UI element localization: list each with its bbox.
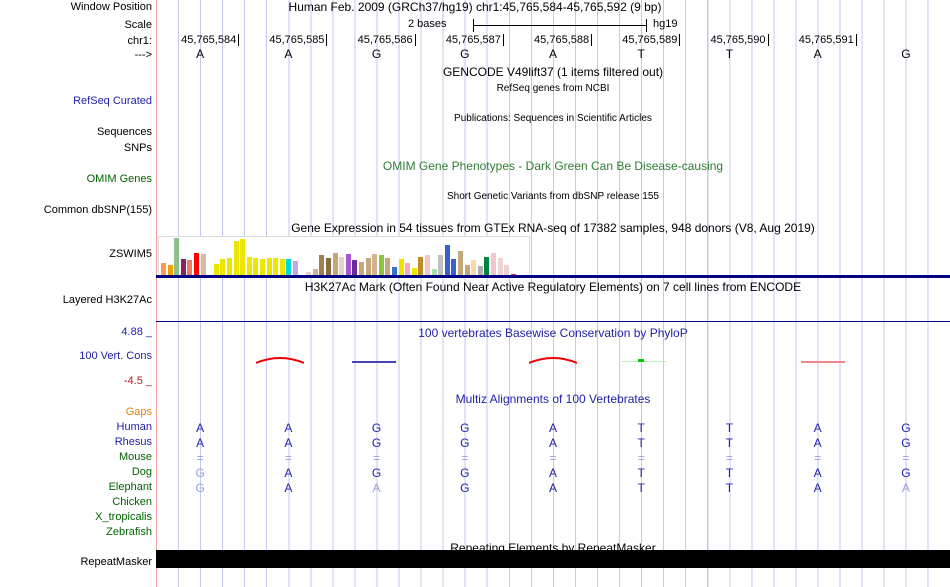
track-label-common-dbsnp[interactable]: Common dbSNP(155): [4, 205, 156, 216]
gtex-bar[interactable]: [194, 253, 199, 276]
window-position-title: Human Feb. 2009 (GRCh37/hg19) chr1:45,76…: [0, 1, 950, 14]
ruler-tick-2: [415, 34, 416, 46]
multiz-row-mouse: =========: [156, 451, 950, 466]
reference-base-1: A: [278, 48, 298, 61]
gtex-bar[interactable]: [326, 258, 331, 276]
track-label-layered-h3k27ac[interactable]: Layered H3K27Ac: [4, 295, 156, 306]
h3k27ac-title: H3K27Ac Mark (Often Found Near Active Re…: [156, 281, 950, 293]
multiz-row-x_tropicalis: [156, 511, 950, 526]
track-label-column: Window PositionScalechr1:--->RefSeq Cura…: [0, 0, 156, 587]
dbsnp-title: Short Genetic Variants from dbSNP releas…: [156, 191, 950, 203]
track-label-omim-genes[interactable]: OMIM Genes: [4, 174, 156, 185]
track-label-human[interactable]: Human: [4, 422, 156, 433]
multiz-base: =: [367, 451, 387, 466]
gtex-bar[interactable]: [247, 257, 252, 277]
multiz-base: T: [719, 466, 739, 481]
track-label-elephant[interactable]: Elephant: [4, 482, 156, 493]
gtex-bar[interactable]: [418, 257, 423, 277]
gtex-bar[interactable]: [451, 259, 456, 276]
reference-base-5: T: [631, 48, 651, 61]
multiz-base: =: [896, 451, 916, 466]
multiz-base: T: [631, 436, 651, 451]
reference-base-4: A: [543, 48, 563, 61]
gtex-bar[interactable]: [260, 259, 265, 276]
multiz-base: T: [719, 481, 739, 496]
track-label-chrom[interactable]: chr1:: [4, 36, 156, 47]
multiz-base: G: [896, 436, 916, 451]
ruler-tick-0: [238, 34, 239, 46]
gtex-expression-barchart[interactable]: [158, 236, 530, 276]
multiz-base: A: [367, 481, 387, 496]
multiz-base: G: [367, 466, 387, 481]
ruler-position-6: 45,765,590: [702, 34, 766, 46]
gtex-bar[interactable]: [458, 251, 463, 276]
multiz-row-human: AAGGATTAG: [156, 421, 950, 436]
publications-title: Publications: Sequences in Scientific Ar…: [156, 113, 950, 125]
multiz-base: G: [190, 466, 210, 481]
track-label-cons-min[interactable]: -4.5 _: [4, 376, 156, 387]
gtex-bar[interactable]: [187, 260, 192, 276]
multiz-base: G: [896, 421, 916, 436]
cons-tick-4-baseline: [622, 361, 666, 362]
multiz-base: =: [631, 451, 651, 466]
multiz-base: G: [367, 436, 387, 451]
gtex-bar[interactable]: [240, 239, 245, 276]
cons-arc-1[interactable]: [256, 354, 304, 366]
scale-row: 2 bases hg19: [156, 18, 950, 32]
gtex-bar[interactable]: [161, 263, 166, 276]
gtex-bar[interactable]: [319, 255, 324, 276]
multiz-base: G: [367, 421, 387, 436]
multiz-row-gaps: [156, 401, 950, 416]
track-label-snps[interactable]: SNPs: [4, 143, 156, 154]
multiz-base: A: [278, 421, 298, 436]
multiz-base: =: [278, 451, 298, 466]
cons-bar-2[interactable]: [352, 361, 396, 363]
multiz-base: T: [719, 421, 739, 436]
multiz-base: A: [278, 466, 298, 481]
gtex-bar[interactable]: [286, 259, 291, 276]
gtex-bar[interactable]: [253, 258, 258, 276]
ruler-position-2: 45,765,586: [349, 34, 413, 46]
track-label-mouse[interactable]: Mouse: [4, 452, 156, 463]
gtex-bar[interactable]: [471, 260, 476, 276]
multiz-base: =: [808, 451, 828, 466]
multiz-base: G: [455, 481, 475, 496]
gtex-bar[interactable]: [359, 262, 364, 276]
multiz-base: T: [719, 436, 739, 451]
ruler-position-5: 45,765,589: [613, 34, 677, 46]
ruler-tick-4: [591, 34, 592, 46]
coordinate-ruler: 45,765,58445,765,58545,765,58645,765,587…: [156, 34, 950, 48]
track-label-gaps[interactable]: Gaps: [4, 407, 156, 418]
gtex-bar[interactable]: [385, 258, 390, 276]
multiz-base: =: [455, 451, 475, 466]
reference-base-3: G: [455, 48, 475, 61]
gtex-bar[interactable]: [379, 255, 384, 276]
gtex-bar[interactable]: [366, 258, 371, 276]
gtex-bar[interactable]: [234, 241, 239, 276]
multiz-base: =: [719, 451, 739, 466]
track-label-zebrafish[interactable]: Zebrafish: [4, 527, 156, 538]
phylop-conservation-track[interactable]: [156, 328, 950, 388]
scale-bar: [473, 25, 647, 26]
ruler-tick-6: [768, 34, 769, 46]
gtex-bar[interactable]: [491, 253, 496, 276]
gtex-bar[interactable]: [280, 259, 285, 276]
gtex-baseline: [156, 275, 950, 278]
gtex-bar[interactable]: [346, 254, 351, 276]
ruler-position-7: 45,765,591: [790, 34, 854, 46]
track-label-zswim5[interactable]: ZSWIM5: [4, 249, 156, 260]
gtex-bar[interactable]: [220, 259, 225, 276]
ruler-position-1: 45,765,585: [260, 34, 324, 46]
cons-tick-4[interactable]: [638, 359, 644, 362]
cons-arc-3[interactable]: [529, 354, 577, 366]
multiz-base: =: [543, 451, 563, 466]
multiz-row-zebrafish: [156, 526, 950, 541]
gtex-bar[interactable]: [352, 260, 357, 276]
multiz-base: A: [808, 481, 828, 496]
ruler-tick-7: [856, 34, 857, 46]
scale-db-label: hg19: [653, 18, 677, 30]
multiz-row-dog: GAGGATTAG: [156, 466, 950, 481]
gtex-bar[interactable]: [425, 255, 430, 276]
repeatmasker-bar[interactable]: [156, 550, 950, 568]
gtex-bar[interactable]: [273, 258, 278, 276]
multiz-row-chicken: [156, 496, 950, 511]
omim-title: OMIM Gene Phenotypes - Dark Green Can Be…: [156, 160, 950, 172]
multiz-base: T: [631, 466, 651, 481]
gtex-bar[interactable]: [399, 259, 404, 276]
gtex-bar[interactable]: [445, 245, 450, 276]
cons-bar-5[interactable]: [801, 361, 845, 363]
track-label-x-tropicalis[interactable]: X_tropicalis: [4, 512, 156, 523]
gtex-bar[interactable]: [293, 261, 298, 276]
track-label-sequences[interactable]: Sequences: [4, 127, 156, 138]
multiz-base: A: [543, 466, 563, 481]
multiz-base: =: [190, 451, 210, 466]
multiz-base: A: [543, 421, 563, 436]
multiz-base: A: [543, 436, 563, 451]
multiz-base: A: [278, 481, 298, 496]
reference-base-2: G: [367, 48, 387, 61]
scale-tick-right: [646, 19, 647, 32]
track-label-refseq-curated[interactable]: RefSeq Curated: [4, 96, 156, 107]
refseq-title: RefSeq genes from NCBI: [156, 83, 950, 95]
multiz-row-elephant: GAAGATTAA: [156, 481, 950, 496]
multiz-base: A: [190, 421, 210, 436]
gtex-bar[interactable]: [227, 258, 232, 276]
gtex-title: Gene Expression in 54 tissues from GTEx …: [156, 222, 950, 234]
scale-label: 2 bases: [408, 18, 447, 30]
multiz-base: G: [190, 481, 210, 496]
track-label-vert-cons[interactable]: 100 Vert. Cons: [4, 351, 156, 362]
ruler-position-4: 45,765,588: [525, 34, 589, 46]
gtex-bar[interactable]: [438, 255, 443, 276]
multiz-base: A: [278, 436, 298, 451]
h3k27ac-baseline: [156, 321, 950, 322]
gtex-bar[interactable]: [339, 257, 344, 277]
reference-base-7: A: [808, 48, 828, 61]
ruler-tick-5: [679, 34, 680, 46]
gtex-bar[interactable]: [498, 258, 503, 276]
track-label-dog[interactable]: Dog: [4, 467, 156, 478]
track-label-cons-max[interactable]: 4.88 _: [4, 327, 156, 338]
track-label-scale[interactable]: Scale: [4, 20, 156, 31]
multiz-base: A: [808, 421, 828, 436]
genome-browser: Human Feb. 2009 (GRCh37/hg19) chr1:45,76…: [0, 0, 950, 587]
multiz-base: A: [896, 481, 916, 496]
track-label-repeatmasker[interactable]: RepeatMasker: [4, 557, 156, 568]
ruler-position-3: 45,765,587: [437, 34, 501, 46]
multiz-base: A: [808, 436, 828, 451]
gtex-bar[interactable]: [174, 238, 179, 276]
reference-base-0: A: [190, 48, 210, 61]
multiz-row-rhesus: AAGGATTAG: [156, 436, 950, 451]
reference-sequence-row: AAGGATTAG: [156, 48, 950, 62]
ruler-position-0: 45,765,584: [172, 34, 236, 46]
multiz-base: G: [455, 436, 475, 451]
multiz-base: A: [808, 466, 828, 481]
gtex-bar[interactable]: [333, 253, 338, 276]
multiz-base: A: [190, 436, 210, 451]
gtex-bar[interactable]: [181, 259, 186, 276]
track-label-rhesus[interactable]: Rhesus: [4, 437, 156, 448]
multiz-base: A: [543, 481, 563, 496]
track-label-strand[interactable]: --->: [4, 50, 156, 61]
ruler-tick-3: [503, 34, 504, 46]
multiz-base: G: [896, 466, 916, 481]
multiz-base: T: [631, 481, 651, 496]
multiz-base: G: [455, 421, 475, 436]
multiz-base: G: [455, 466, 475, 481]
track-label-chicken[interactable]: Chicken: [4, 497, 156, 508]
reference-base-6: T: [719, 48, 739, 61]
gtex-bar[interactable]: [267, 258, 272, 276]
gtex-bar[interactable]: [372, 254, 377, 276]
gtex-bar[interactable]: [405, 263, 410, 276]
multiz-base: T: [631, 421, 651, 436]
ruler-tick-1: [326, 34, 327, 46]
reference-base-8: G: [896, 48, 916, 61]
gtex-bar[interactable]: [201, 254, 206, 276]
track-image-area[interactable]: GENCODE V49lift37 (1 items filtered out)…: [156, 0, 950, 587]
gtex-bar[interactable]: [484, 257, 489, 277]
gencode-title: GENCODE V49lift37 (1 items filtered out): [156, 66, 950, 78]
